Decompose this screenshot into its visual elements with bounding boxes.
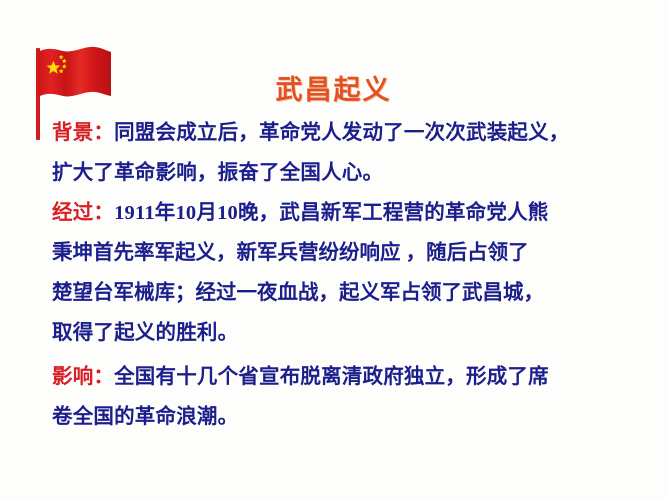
slide-canvas: 武昌起义 背景：同盟会成立后，革命党人发动了一次次武装起义， 扩大了革命影响，振… bbox=[0, 0, 667, 500]
page-title: 武昌起义 bbox=[0, 68, 667, 107]
section-impact-text-1: 全国有十几个省宣布脱离清政府独立，形成了席 bbox=[114, 366, 549, 388]
slide-body: 背景：同盟会成立后，革命党人发动了一次次武装起义， 扩大了革命影响，振奋了全国人… bbox=[52, 113, 652, 437]
section-impact: 影响：全国有十几个省宣布脱离清政府独立，形成了席 卷全国的革命浪潮。 bbox=[52, 357, 652, 437]
section-process-line-1: 经过：1911年10月10晚，武昌新军工程营的革命党人熊 bbox=[52, 193, 652, 233]
section-process-line-3: 楚望台军械库；经过一夜血战，起义军占领了武昌城， bbox=[52, 273, 652, 313]
section-background-line-1: 背景：同盟会成立后，革命党人发动了一次次武装起义， bbox=[52, 113, 652, 153]
section-process-label: 经过： bbox=[52, 202, 114, 224]
section-process-line-2: 秉坤首先率军起义，新军兵营纷纷响应 ，随后占领了 bbox=[52, 233, 652, 273]
section-impact-line-2: 卷全国的革命浪潮。 bbox=[52, 397, 652, 437]
section-impact-line-1: 影响：全国有十几个省宣布脱离清政府独立，形成了席 bbox=[52, 357, 652, 397]
section-background-label: 背景： bbox=[52, 122, 114, 144]
section-background: 背景：同盟会成立后，革命党人发动了一次次武装起义， 扩大了革命影响，振奋了全国人… bbox=[52, 113, 652, 193]
section-background-line-2: 扩大了革命影响，振奋了全国人心。 bbox=[52, 153, 652, 193]
section-background-text-1: 同盟会成立后，革命党人发动了一次次武装起义， bbox=[114, 122, 569, 144]
section-process-text-1: 1911年10月10晚，武昌新军工程营的革命党人熊 bbox=[114, 202, 548, 224]
section-process: 经过：1911年10月10晚，武昌新军工程营的革命党人熊 秉坤首先率军起义，新军… bbox=[52, 193, 652, 353]
section-process-line-4: 取得了起义的胜利。 bbox=[52, 313, 652, 353]
section-impact-label: 影响： bbox=[52, 366, 114, 388]
